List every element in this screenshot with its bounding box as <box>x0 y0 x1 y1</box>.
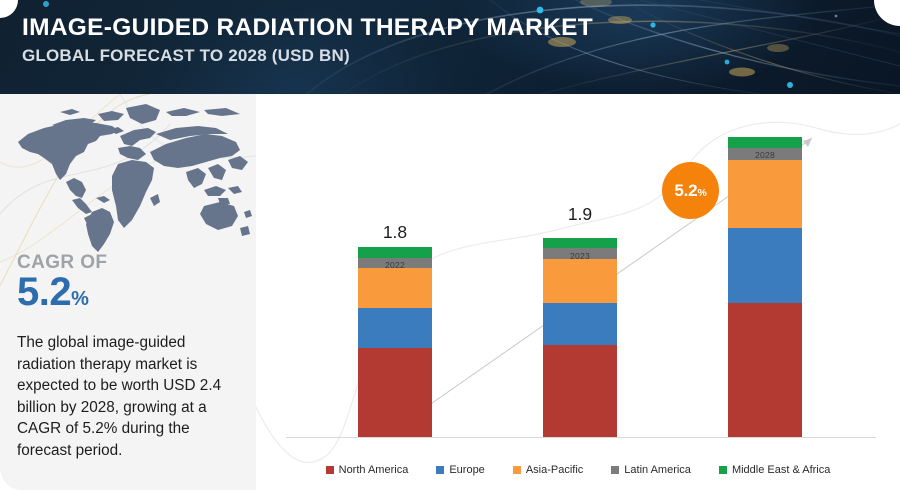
cagr-number: 5.2 <box>17 270 71 314</box>
header-banner: IMAGE-GUIDED RADIATION THERAPY MARKET GL… <box>0 0 900 94</box>
bar-group-2028: 2.4 2028 <box>728 137 802 437</box>
segment-north-america-2022[interactable] <box>358 348 432 437</box>
legend-swatch-north-america <box>326 466 334 474</box>
x-axis-label-2023: 2023 <box>530 251 630 261</box>
segment-middle-east-africa-2023[interactable] <box>543 238 617 248</box>
legend-item-europe[interactable]: Europe <box>436 464 484 476</box>
world-map-graphic <box>0 94 256 259</box>
header-text-block: IMAGE-GUIDED RADIATION THERAPY MARKET GL… <box>22 14 593 66</box>
segment-north-america-2023[interactable] <box>543 345 617 437</box>
page-subtitle: GLOBAL FORECAST TO 2028 (USD BN) <box>22 46 593 66</box>
legend-item-north-america[interactable]: North America <box>326 464 409 476</box>
x-axis-label-2028: 2028 <box>715 150 815 160</box>
segment-europe-2028[interactable] <box>728 228 802 303</box>
segment-asia-pacific-2023[interactable] <box>543 259 617 303</box>
infographic-root: IMAGE-GUIDED RADIATION THERAPY MARKET GL… <box>0 0 900 490</box>
cagr-block: CAGR OF 5.2% <box>17 252 107 312</box>
stacked-bar-2028[interactable] <box>728 137 802 437</box>
world-map <box>0 94 256 259</box>
legend-label-middle-east-africa: Middle East & Africa <box>732 464 830 476</box>
legend-item-asia-pacific[interactable]: Asia-Pacific <box>513 464 583 476</box>
legend-item-middle-east-africa[interactable]: Middle East & Africa <box>719 464 830 476</box>
x-axis-label-2022: 2022 <box>345 260 445 270</box>
page-title: IMAGE-GUIDED RADIATION THERAPY MARKET <box>22 14 593 41</box>
segment-asia-pacific-2028[interactable] <box>728 160 802 228</box>
cagr-percent-sign: % <box>71 288 89 310</box>
segment-europe-2022[interactable] <box>358 308 432 348</box>
chart-panel: 1.8 2022 1.9 2023 2.4 <box>256 94 900 490</box>
chart-legend: North America Europe Asia-Pacific Latin … <box>256 464 900 476</box>
cagr-badge-unit: % <box>697 187 706 199</box>
legend-item-latin-america[interactable]: Latin America <box>611 464 691 476</box>
legend-swatch-asia-pacific <box>513 466 521 474</box>
segment-middle-east-africa-2022[interactable] <box>358 247 432 258</box>
stacked-bar-2022[interactable] <box>358 247 432 437</box>
leader-arrowhead <box>803 138 812 147</box>
legend-label-asia-pacific: Asia-Pacific <box>526 464 583 476</box>
segment-middle-east-africa-2028[interactable] <box>728 137 802 148</box>
x-axis-line <box>286 437 876 438</box>
sidebar-panel: CAGR OF 5.2% The global image-guided rad… <box>0 94 256 490</box>
legend-swatch-latin-america <box>611 466 619 474</box>
legend-label-north-america: North America <box>339 464 409 476</box>
description-text: The global image-guided radiation therap… <box>17 332 243 462</box>
bar-total-2023: 1.9 <box>543 204 617 225</box>
segment-europe-2023[interactable] <box>543 303 617 345</box>
legend-label-latin-america: Latin America <box>624 464 691 476</box>
legend-label-europe: Europe <box>449 464 484 476</box>
bar-group-2023: 1.9 2023 <box>543 238 617 437</box>
stacked-bar-2023[interactable] <box>543 238 617 437</box>
segment-north-america-2028[interactable] <box>728 303 802 437</box>
cagr-badge[interactable]: 5.2% <box>662 162 719 219</box>
legend-swatch-europe <box>436 466 444 474</box>
cagr-badge-text: 5.2% <box>674 181 706 201</box>
cagr-value: 5.2% <box>17 272 107 312</box>
bar-total-2022: 1.8 <box>358 222 432 243</box>
segment-asia-pacific-2022[interactable] <box>358 268 432 308</box>
cagr-badge-value: 5.2 <box>674 181 697 200</box>
bar-group-2022: 1.8 2022 <box>358 247 432 437</box>
legend-swatch-middle-east-africa <box>719 466 727 474</box>
